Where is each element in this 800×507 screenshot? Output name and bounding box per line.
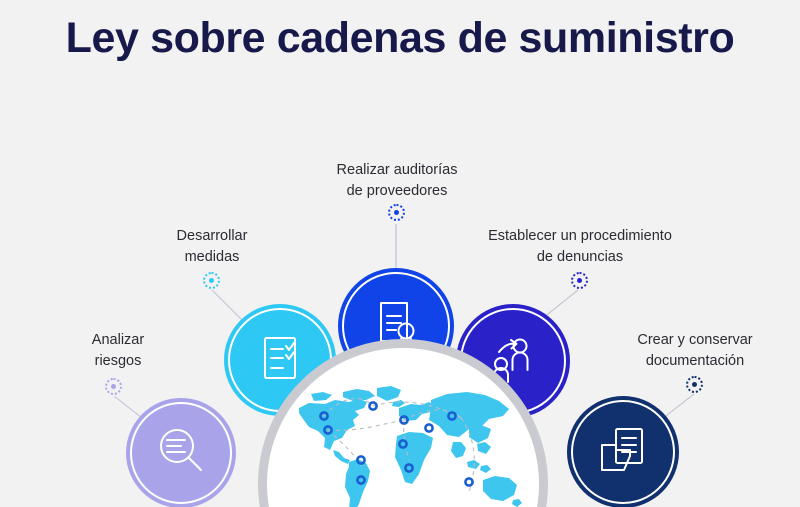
connector-node-crear-conservar-documentacion[interactable] [686, 376, 703, 393]
world-map-network [281, 384, 535, 507]
step-circle-analizar-riesgos[interactable] [126, 398, 236, 507]
connector-node-desarrollar-medidas[interactable] [203, 272, 220, 289]
step-label-desarrollar-medidas: Desarrollar medidas [146, 226, 278, 267]
map-marker [465, 478, 472, 485]
map-marker [357, 456, 364, 463]
page-title: Ley sobre cadenas de suministro [0, 14, 800, 63]
step-label-procedimiento-denuncias: Establecer un procedimiento de denuncias [460, 226, 700, 267]
connector-node-analizar-riesgos[interactable] [105, 378, 122, 395]
magnifier-document-icon [152, 422, 210, 485]
map-landmasses [299, 386, 522, 507]
step-label-realizar-auditorias: Realizar auditorías de proveedores [302, 160, 492, 201]
step-circle-crear-conservar-documentacion[interactable] [567, 396, 679, 507]
folder-document-icon [594, 421, 652, 484]
step-label-analizar-riesgos: Analizar riesgos [54, 330, 182, 371]
map-marker [425, 424, 432, 431]
infographic-canvas: Ley sobre cadenas de suministro [0, 0, 800, 507]
connector-node-procedimiento-denuncias[interactable] [571, 272, 588, 289]
step-label-crear-conservar-documentacion: Crear y conservar documentación [612, 330, 778, 371]
connector-node-realizar-auditorias[interactable] [388, 204, 405, 221]
